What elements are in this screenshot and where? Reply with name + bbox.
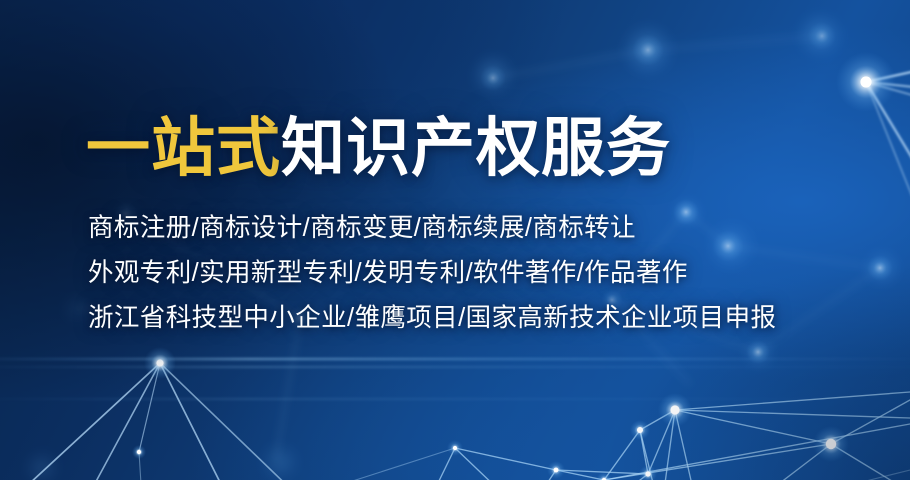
- service-line-projects: 浙江省科技型中小企业/雏鹰项目/国家高新技术企业项目申报: [88, 296, 846, 341]
- page-title: 一站式知识产权服务: [86, 112, 846, 184]
- page-title-accent: 一站式: [86, 112, 281, 184]
- service-line-trademark: 商标注册/商标设计/商标变更/商标续展/商标转让: [88, 206, 846, 251]
- page-title-plain: 知识产权服务: [281, 112, 671, 184]
- service-line-patent: 外观专利/实用新型专利/发明专利/软件著作/作品著作: [88, 251, 846, 296]
- hero-banner: 一站式知识产权服务 商标注册/商标设计/商标变更/商标续展/商标转让 外观专利/…: [0, 0, 910, 480]
- service-list: 商标注册/商标设计/商标变更/商标续展/商标转让 外观专利/实用新型专利/发明专…: [88, 206, 846, 341]
- banner-content: 一站式知识产权服务 商标注册/商标设计/商标变更/商标续展/商标转让 外观专利/…: [86, 112, 846, 341]
